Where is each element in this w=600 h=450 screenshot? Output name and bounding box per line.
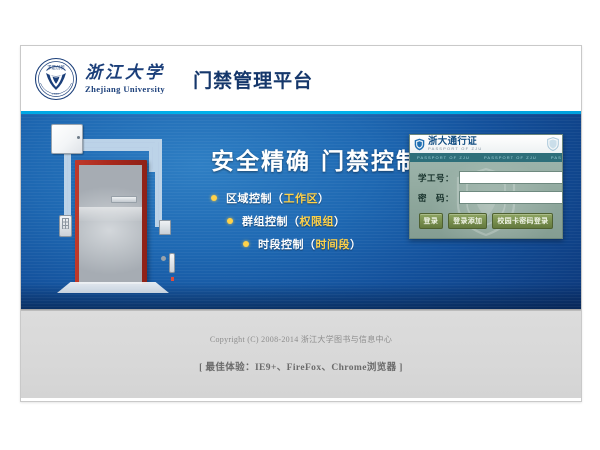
hero-feature-tail: ）	[318, 190, 330, 206]
page-container: 求是创新 1897 浙江大学 Zhejiang University 门禁管理平…	[20, 45, 582, 402]
username-input[interactable]	[459, 171, 563, 184]
hero-feature-item: 时段控制（ 时间段 ）	[243, 236, 421, 252]
login-panel-header: 浙大通行证 PASSPORT OF ZJU	[410, 135, 562, 153]
password-input[interactable]	[459, 191, 563, 204]
strip-text: PASSPORT OF ZJU	[544, 155, 562, 160]
card-reader-icon	[159, 220, 171, 235]
login-brand-cn: 浙大通行证	[428, 137, 482, 147]
login-passport-strip: PASSPORT OF ZJU PASSPORT OF ZJU PASSPORT…	[410, 153, 562, 162]
security-door-icon	[75, 160, 147, 284]
hero-banner: 安全精确 门禁控制 区域控制（ 工作区 ） 群组控制（ 权限组 ）	[21, 114, 581, 309]
hero-feature-tail: ）	[334, 213, 346, 229]
door-knob-icon	[161, 256, 166, 261]
floor-platform	[57, 282, 169, 293]
keypad-reader-icon	[59, 215, 72, 237]
login-add-button[interactable]: 登录添加	[448, 213, 487, 229]
login-button[interactable]: 登录	[419, 213, 444, 229]
password-label: 密 码：	[418, 192, 454, 204]
hero-copy: 安全精确 门禁控制 区域控制（ 工作区 ） 群组控制（ 权限组 ）	[211, 142, 421, 259]
door-status-led	[171, 277, 174, 281]
svg-text:求是创新: 求是创新	[47, 64, 65, 71]
hero-feature-list: 区域控制（ 工作区 ） 群组控制（ 权限组 ） 时段控制（ 时间段	[211, 190, 421, 252]
footer-divider	[21, 309, 581, 311]
shield-icon	[414, 138, 425, 151]
footer-copyright: Copyright (C) 2008-2014 浙江大学图书与信息中心	[210, 334, 392, 345]
hero-feature-item: 群组控制（ 权限组 ）	[227, 213, 421, 229]
footer-browser-note: [ 最佳体验：IE9+、FireFox、Chrome浏览器 ]	[199, 359, 403, 373]
zju-seal-icon: 求是创新 1897	[33, 56, 79, 102]
security-door-illustration	[43, 122, 183, 302]
wire-segment	[81, 144, 155, 151]
login-form: 学工号： 密 码： 登录 登录添加 校园卡密码登录	[410, 162, 562, 238]
site-header: 求是创新 1897 浙江大学 Zhejiang University 门禁管理平…	[21, 46, 581, 114]
shield-watermark-icon	[547, 137, 559, 151]
wire-segment	[64, 152, 71, 221]
door-closer-icon	[111, 196, 137, 203]
bullet-dot-icon	[243, 241, 249, 247]
hero-feature-tail: ）	[350, 236, 362, 252]
login-button-row: 登录 登录添加 校园卡密码登录	[418, 213, 554, 229]
username-label: 学工号：	[418, 172, 454, 184]
hero-feature-accent: 工作区	[284, 190, 319, 206]
page-title: 门禁管理平台	[193, 66, 313, 93]
hero-feature-text: 区域控制（	[226, 190, 284, 206]
login-brand: 浙大通行证 PASSPORT OF ZJU	[428, 137, 482, 152]
hero-feature-accent: 权限组	[300, 213, 335, 229]
site-footer: Copyright (C) 2008-2014 浙江大学图书与信息中心 [ 最佳…	[21, 309, 581, 398]
strip-text: PASSPORT OF ZJU	[477, 155, 544, 160]
hero-feature-text: 群组控制（	[242, 213, 300, 229]
screenshot-root: 求是创新 1897 浙江大学 Zhejiang University 门禁管理平…	[0, 0, 600, 450]
door-slab	[79, 165, 142, 284]
hero-feature-item: 区域控制（ 工作区 ）	[211, 190, 421, 206]
wire-segment	[149, 144, 156, 172]
header-branding: 求是创新 1897 浙江大学 Zhejiang University 门禁管理平…	[33, 56, 313, 102]
login-panel: 浙大通行证 PASSPORT OF ZJU PASSPORT OF ZJU PA…	[409, 134, 563, 239]
bullet-dot-icon	[227, 218, 233, 224]
hero-headline: 安全精确 门禁控制	[211, 142, 421, 176]
control-box-icon	[51, 124, 83, 154]
campus-card-login-button[interactable]: 校园卡密码登录	[492, 213, 553, 229]
hero-feature-text: 时段控制（	[258, 236, 316, 252]
hero-feature-accent: 时间段	[316, 236, 351, 252]
door-handle-icon	[169, 253, 175, 273]
login-brand-en: PASSPORT OF ZJU	[428, 147, 482, 151]
university-name-en: Zhejiang University	[85, 84, 165, 94]
wire-segment	[155, 139, 162, 227]
strip-text: PASSPORT OF ZJU	[410, 155, 477, 160]
bullet-dot-icon	[211, 195, 217, 201]
svg-text:1897: 1897	[52, 92, 60, 96]
password-field-row: 密 码：	[418, 191, 554, 204]
username-field-row: 学工号：	[418, 171, 554, 184]
university-name-cn: 浙江大学	[85, 64, 165, 83]
university-wordmark: 浙江大学 Zhejiang University	[85, 57, 165, 101]
